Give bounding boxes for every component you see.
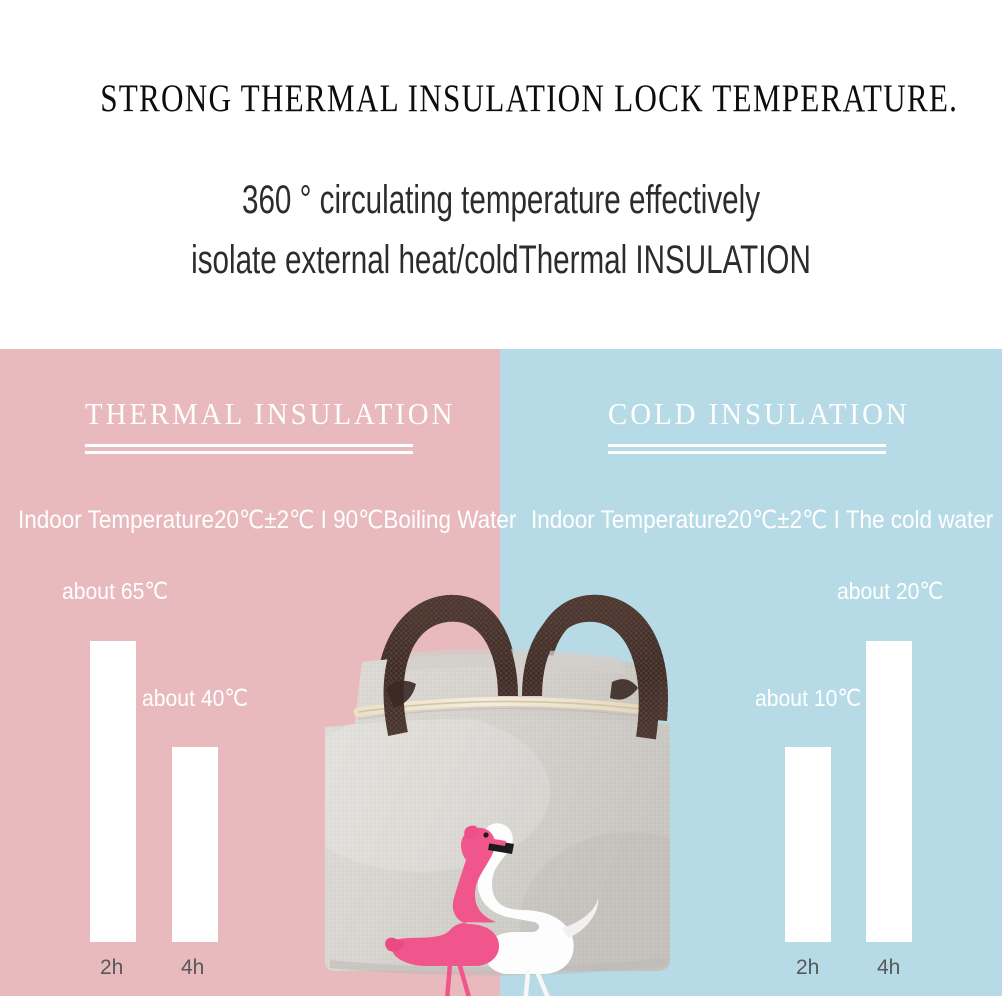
promo-page: STRONG THERMAL INSULATION LOCK TEMPERATU… [0,0,1002,1002]
subtitle-line-2: isolate external heat/coldThermal INSULA… [130,238,871,283]
divider-line-bottom [85,451,413,454]
cold-insulation-description: Indoor Temperature20℃±2℃ I The cold wate… [531,505,993,535]
product-photo-insulated-lunch-bag [300,592,692,998]
axis-label-4h-cold: 4h [877,956,900,980]
bar-4h-thermal [172,747,218,942]
cold-insulation-heading: COLD INSULATION [608,396,910,432]
cold-insulation-heading-group: COLD INSULATION [608,396,932,454]
axis-label-4h-thermal: 4h [181,956,204,980]
thermal-insulation-heading: THERMAL INSULATION [85,396,455,432]
divider-line-top [608,444,886,447]
divider-line-top [85,444,413,447]
page-title: STRONG THERMAL INSULATION LOCK TEMPERATU… [100,76,902,121]
bar-2h-cold [785,747,831,942]
thermal-insulation-description: Indoor Temperature20℃±2℃ I 90℃Boiling Wa… [18,505,516,535]
bar-2h-thermal [90,641,136,942]
divider-line-bottom [608,451,886,454]
subtitle-line-1: 360 ° circulating temperature effectivel… [130,178,871,223]
bar-value-4h-thermal: about 40℃ [142,685,248,712]
axis-label-2h-thermal: 2h [100,956,123,980]
bar-value-2h-thermal: about 65℃ [62,578,168,605]
bar-value-2h-cold: about 10℃ [755,685,861,712]
cold-heading-divider [608,444,932,454]
bar-4h-cold [866,641,912,942]
bottom-white-strip [273,996,733,1002]
thermal-insulation-heading-group: THERMAL INSULATION [85,396,483,454]
bar-value-4h-cold: about 20℃ [837,578,943,605]
axis-label-2h-cold: 2h [796,956,819,980]
thermal-heading-divider [85,444,483,454]
